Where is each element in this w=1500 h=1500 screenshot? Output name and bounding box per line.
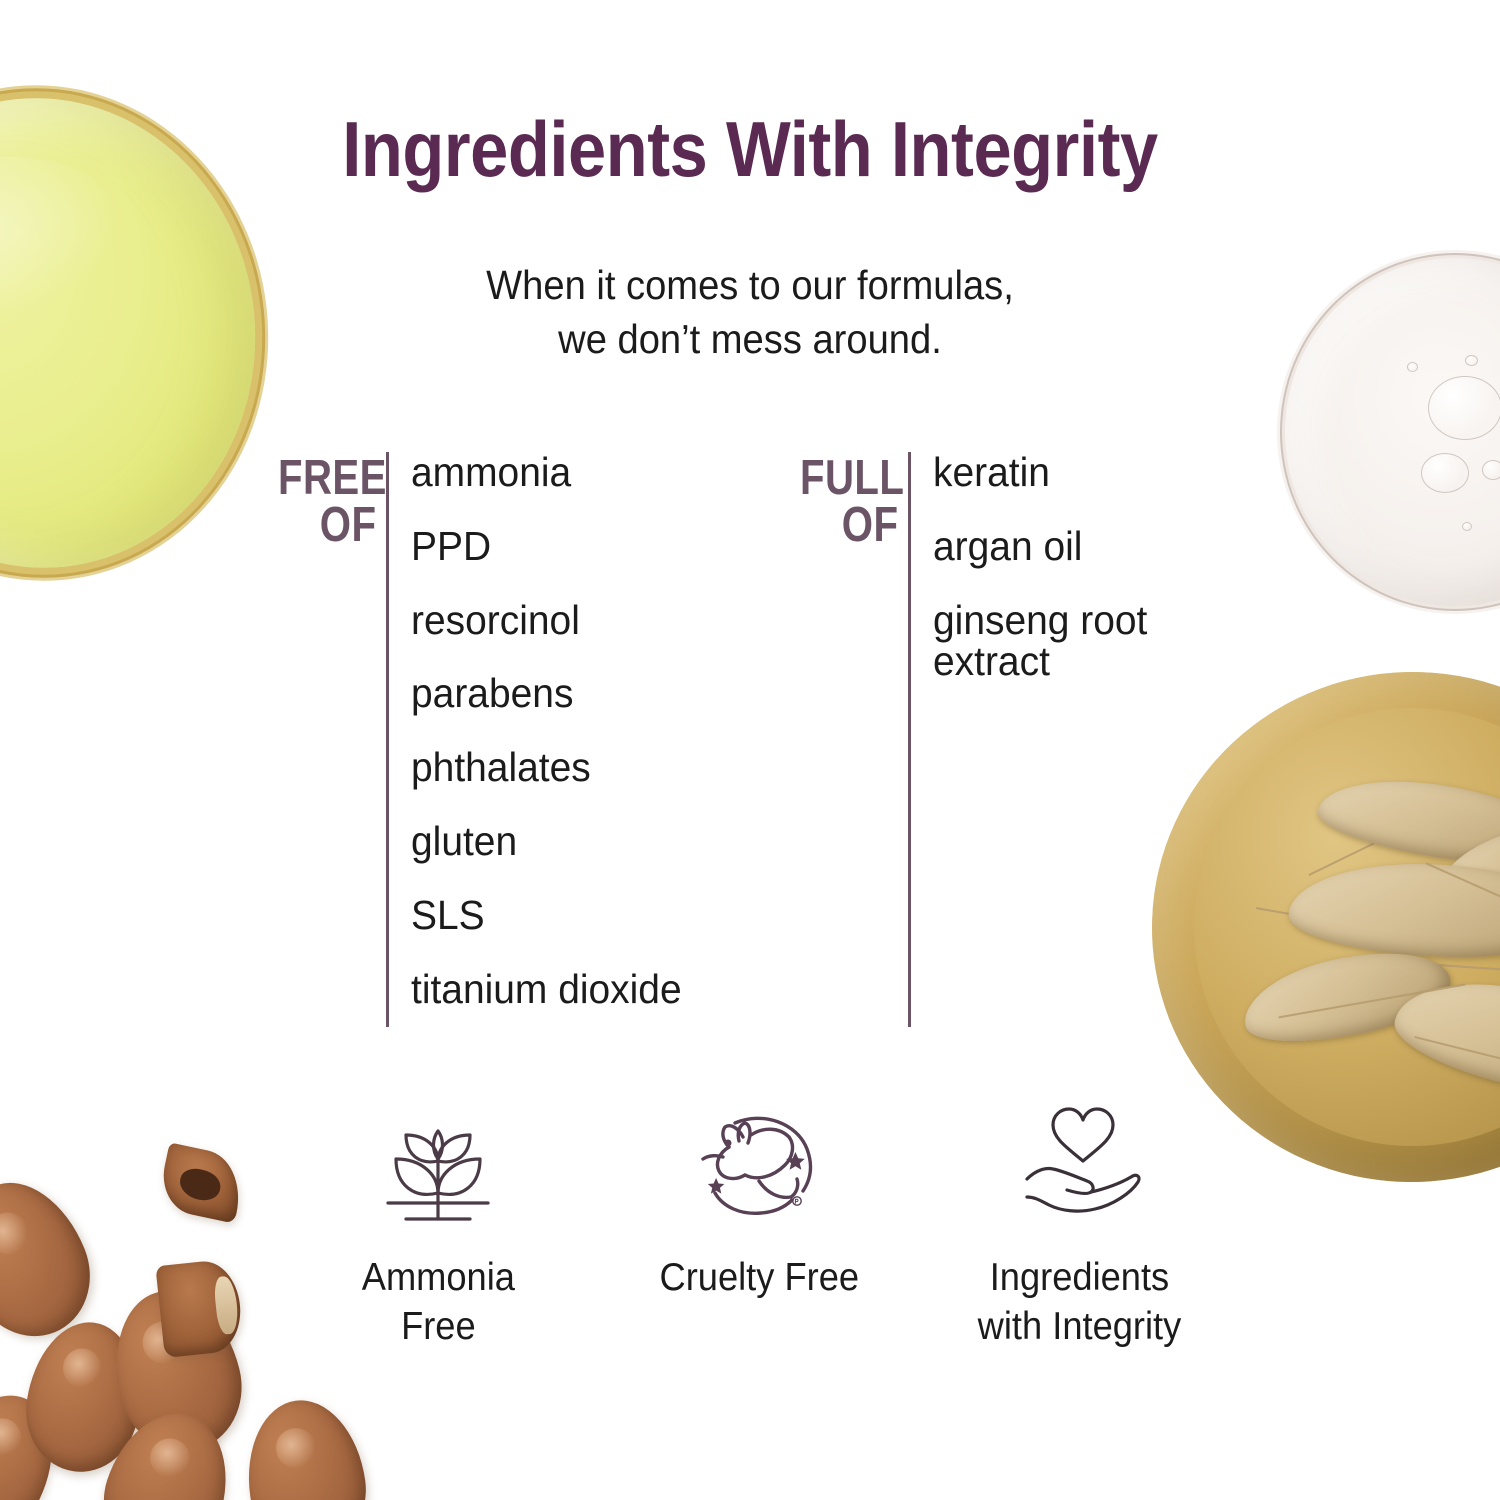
list-item: keratin <box>933 452 1223 494</box>
free-of-label: FREE OF <box>278 452 378 1027</box>
badge-label-line-1: Ingredients <box>990 1256 1169 1299</box>
badge-label: Cruelty Free <box>659 1254 859 1303</box>
list-item: parabens <box>411 673 682 715</box>
list-item: titanium dioxide <box>411 969 682 1011</box>
cracked-argan-nut <box>156 1142 248 1223</box>
free-of-word-2: OF <box>278 502 378 549</box>
badge-ingredients-with-integrity: Ingredients with Integrity <box>919 1100 1240 1352</box>
badge-label-line-2: with Integrity <box>978 1303 1182 1352</box>
full-of-column: FULL OF keratin argan oil ginseng root e… <box>800 452 1238 1027</box>
gel-bubble <box>1421 453 1469 493</box>
infographic-canvas: Ingredients With Integrity When it comes… <box>0 0 1500 1500</box>
free-of-word-1: FREE <box>278 455 378 502</box>
badge-label-line-1: Ammonia <box>362 1256 515 1299</box>
cracked-argan-nut <box>155 1258 244 1358</box>
list-item: ammonia <box>411 452 682 494</box>
full-of-word-2: OF <box>800 502 900 549</box>
list-item: SLS <box>411 895 682 937</box>
page-title: Ingredients With Integrity <box>90 110 1410 188</box>
badge-label: Ingredients with Integrity <box>978 1254 1182 1352</box>
badge-label-line-2: Free <box>362 1303 515 1352</box>
subtitle-line-1: When it comes to our formulas, <box>486 262 1014 308</box>
certification-badges: Ammonia Free <box>278 1100 1240 1352</box>
free-of-list: ammonia PPD resorcinol parabens phthalat… <box>389 452 696 1027</box>
badge-cruelty-free: Cruelty Free <box>599 1100 920 1352</box>
plant-sprout-icon <box>374 1100 502 1232</box>
badge-label-line-1: Cruelty Free <box>659 1256 859 1299</box>
list-item: phthalates <box>411 747 682 789</box>
heart-in-hand-icon <box>1009 1100 1151 1232</box>
full-of-label: FULL OF <box>800 452 900 1027</box>
ingredient-columns: FREE OF ammonia PPD resorcinol parabens … <box>278 452 1238 1032</box>
free-of-column: FREE OF ammonia PPD resorcinol parabens … <box>278 452 696 1027</box>
gel-bubble <box>1428 376 1500 440</box>
subtitle: When it comes to our formulas, we don’t … <box>53 258 1448 366</box>
list-item: PPD <box>411 526 682 568</box>
gel-bubble <box>1462 522 1472 531</box>
list-item: argan oil <box>933 526 1223 568</box>
leaping-bunny-icon <box>693 1100 825 1232</box>
argan-nut <box>238 1393 374 1500</box>
badge-label: Ammonia Free <box>362 1254 515 1352</box>
full-of-word-1: FULL <box>800 455 900 502</box>
list-item: ginseng root extract <box>933 600 1223 684</box>
gel-bubble <box>1465 355 1478 366</box>
full-of-list: keratin argan oil ginseng root extract <box>911 452 1238 1027</box>
gel-bubble <box>1482 460 1500 480</box>
ginseng-root <box>1287 859 1500 961</box>
subtitle-line-2: we don’t mess around. <box>53 312 1448 366</box>
badge-ammonia-free: Ammonia Free <box>278 1100 599 1352</box>
list-item: resorcinol <box>411 600 682 642</box>
list-item: gluten <box>411 821 682 863</box>
